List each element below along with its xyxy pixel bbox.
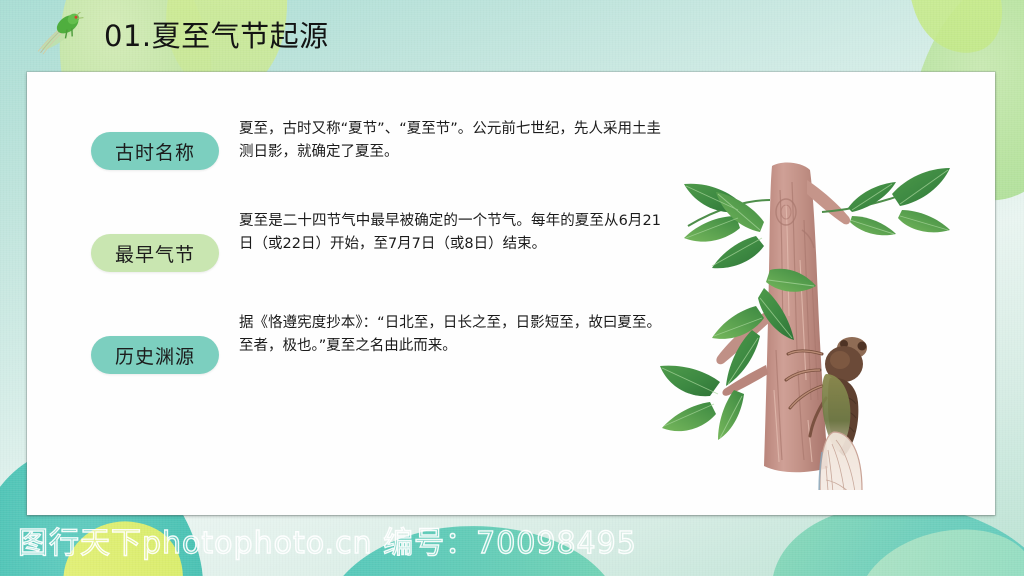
watermark-text: 图行天下photophoto.cn 编号：70098495: [18, 526, 637, 562]
section-pill-ancient-name[interactable]: 古时名称: [91, 132, 219, 170]
content-rows: 古时名称 夏至，古时又称“夏节”、“夏至节”。公元前七世纪，先人采用土圭测日影，…: [91, 118, 661, 374]
section-pill-historical-origin[interactable]: 历史渊源: [91, 336, 219, 374]
slide: 01.夏至气节起源 古时名称 夏至，古时又称“夏节”、“夏至节”。公元前七世纪，…: [0, 0, 1024, 576]
content-row: 最早气节 夏至是二十四节气中最早被确定的一个节气。每年的夏至从6月21日（或22…: [91, 210, 661, 272]
section-body-historical-origin: 据《恪遵宪度抄本》：“日北至，日长之至，日影短至，故曰夏至。至者，极也。”夏至之…: [239, 312, 661, 358]
section-body-ancient-name: 夏至，古时又称“夏节”、“夏至节”。公元前七世纪，先人采用土圭测日影，就确定了夏…: [239, 118, 661, 164]
section-pill-earliest-term[interactable]: 最早气节: [91, 234, 219, 272]
page-title: 01.夏至气节起源: [104, 18, 329, 54]
cicada-on-tree-illustration: [652, 160, 952, 490]
title-bar: 01.夏至气节起源: [0, 0, 1024, 72]
green-leafhopper-icon: [30, 12, 88, 56]
section-body-earliest-term: 夏至是二十四节气中最早被确定的一个节气。每年的夏至从6月21日（或22日）开始，…: [239, 210, 661, 256]
leaf-shape-bottom-right-2-icon: [845, 512, 1024, 576]
content-row: 古时名称 夏至，古时又称“夏节”、“夏至节”。公元前七世纪，先人采用土圭测日影，…: [91, 118, 661, 170]
content-row: 历史渊源 据《恪遵宪度抄本》：“日北至，日长之至，日影短至，故曰夏至。至者，极也…: [91, 312, 661, 374]
